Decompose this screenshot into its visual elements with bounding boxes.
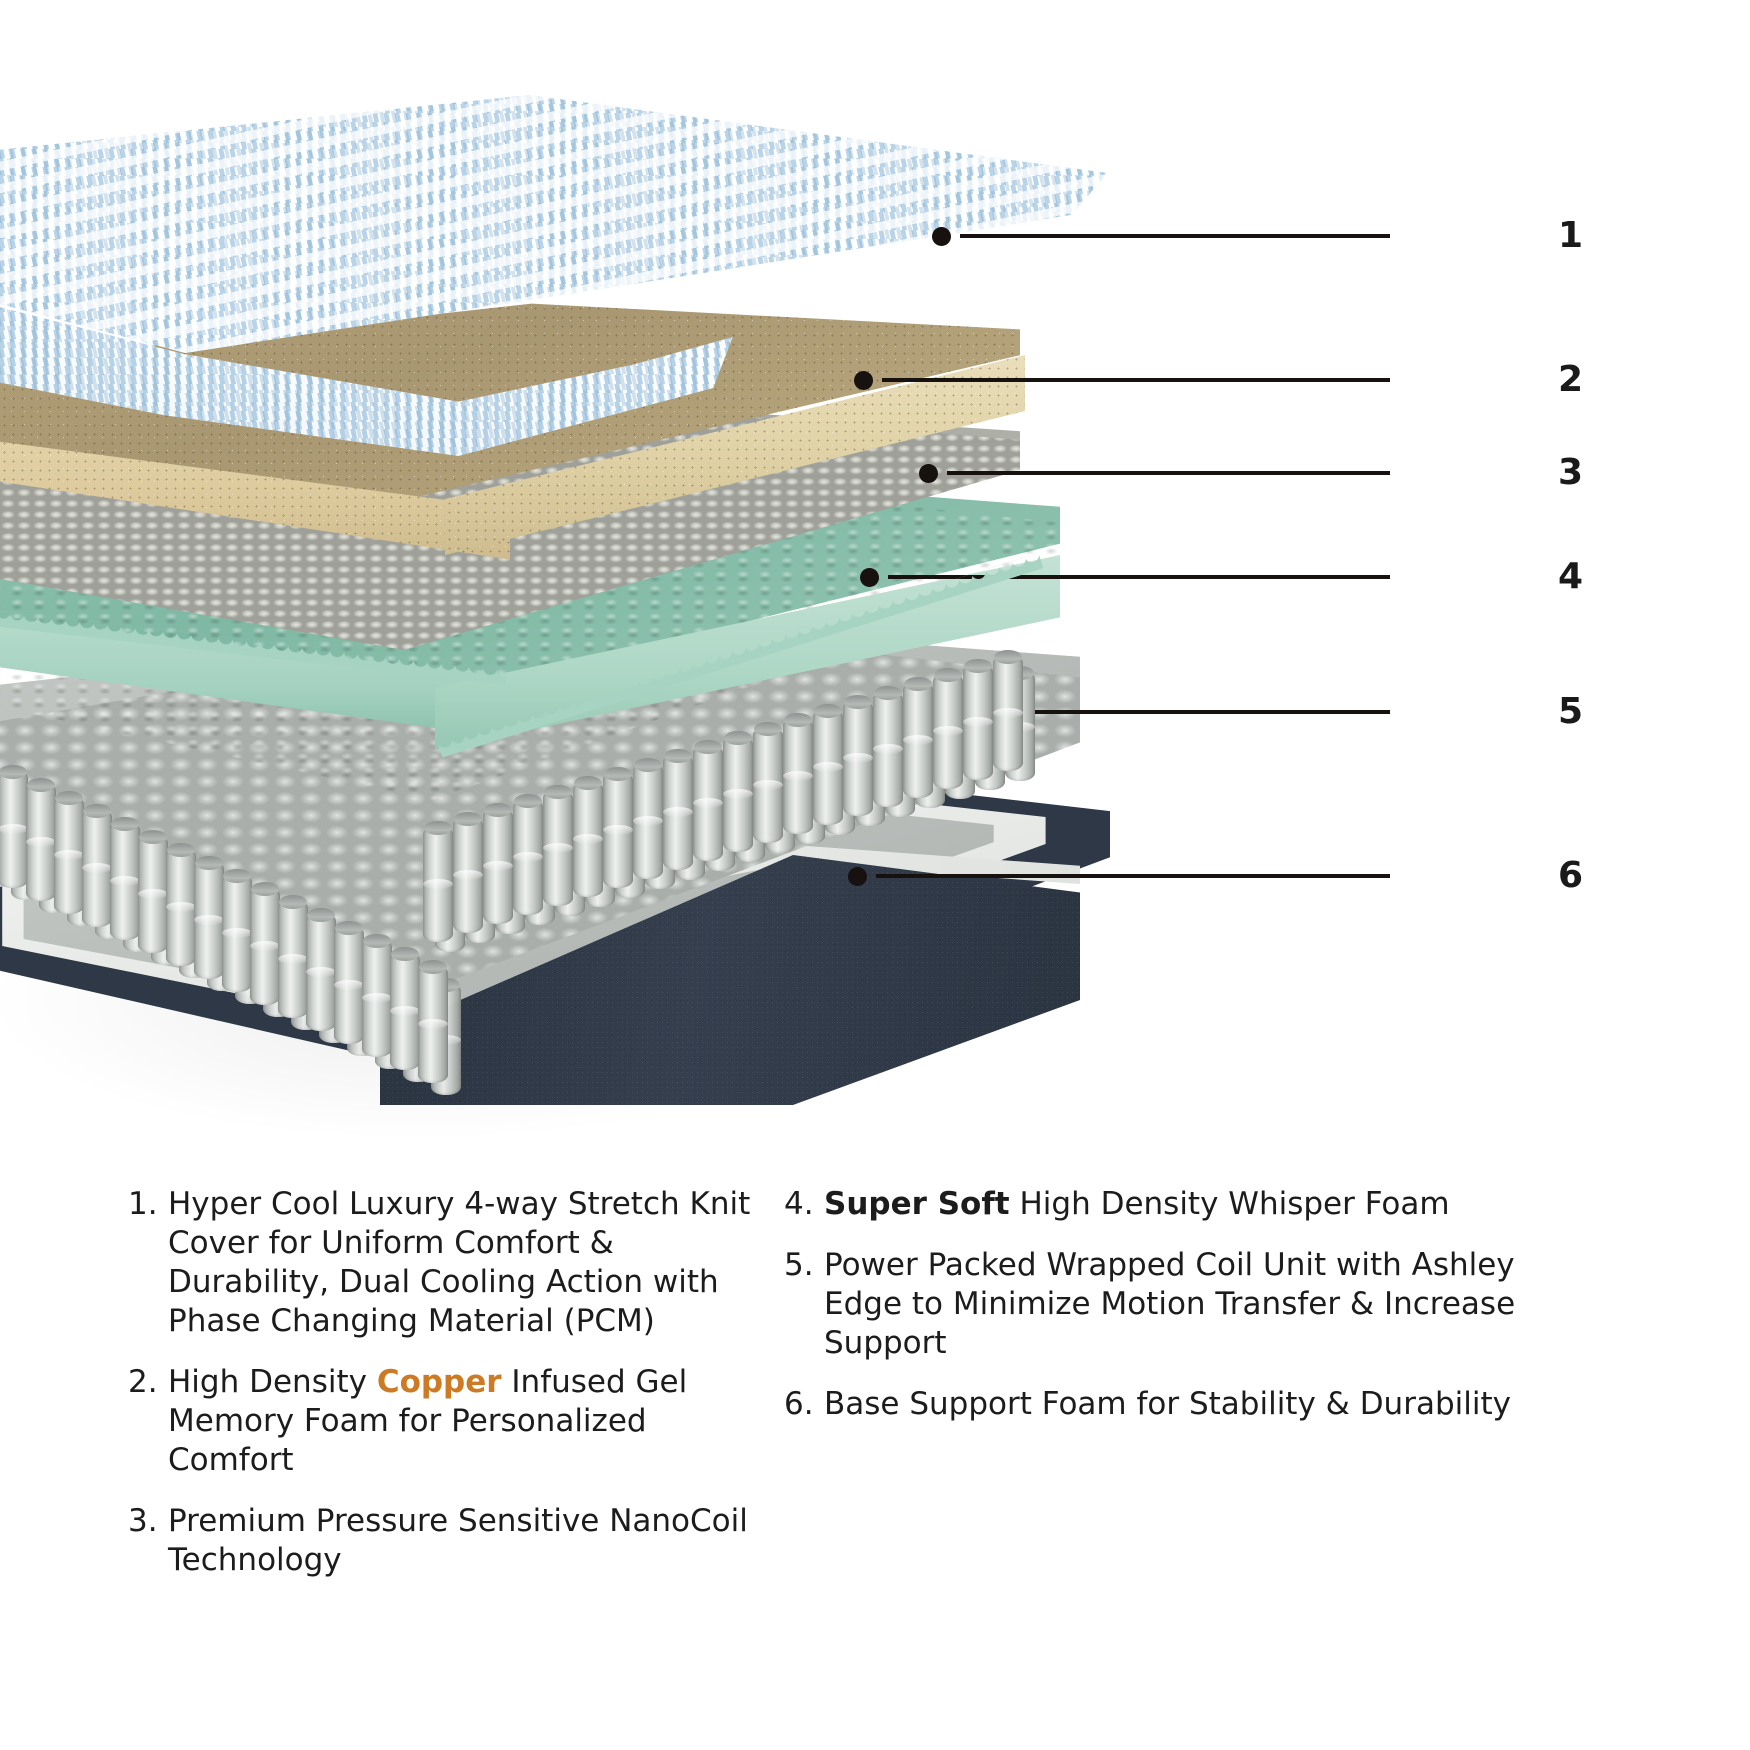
legend-item-text: Hyper Cool Luxury 4-way Stretch Knit Cov…: [168, 1185, 760, 1341]
callout-dot-4: [860, 568, 879, 587]
callout-leader-line-2: [882, 378, 1390, 382]
coil-cylinder: [543, 790, 573, 906]
coil-cylinder: [693, 745, 723, 861]
callout-number-5: 5: [1558, 694, 1583, 730]
coil-cylinder: [903, 682, 933, 798]
legend-item-number: 3.: [128, 1502, 168, 1580]
legend-item-number: 2.: [128, 1363, 168, 1480]
coil-cylinder: [138, 835, 168, 953]
coil-cylinder: [54, 796, 84, 914]
callout-number-6: 6: [1558, 858, 1583, 894]
coil-cylinder: [843, 700, 873, 816]
legend-item-text: Premium Pressure Sensitive NanoCoil Tech…: [168, 1502, 760, 1580]
coil-cylinder: [633, 763, 663, 879]
legend-item-text: Base Support Foam for Stability & Durabi…: [824, 1385, 1560, 1424]
legend-item-text: High Density Copper Infused Gel Memory F…: [168, 1363, 760, 1480]
coil-cylinder: [390, 952, 420, 1070]
coil-cylinder: [250, 887, 280, 1005]
coil-cylinder: [933, 673, 963, 789]
coil-cylinder: [783, 718, 813, 834]
coil-cylinder: [278, 900, 308, 1018]
coil-cylinder: [813, 709, 843, 825]
legend-column-right: 4.Super Soft High Density Whisper Foam5.…: [760, 1185, 1560, 1750]
coil-cylinder: [26, 783, 56, 901]
callout-dot-3: [919, 464, 938, 483]
coil-cylinder: [194, 861, 224, 979]
legend-item-2: 2.High Density Copper Infused Gel Memory…: [128, 1363, 760, 1480]
legend-item-text: Power Packed Wrapped Coil Unit with Ashl…: [824, 1246, 1560, 1363]
legend-item-number: 5.: [784, 1246, 824, 1363]
coil-cylinder: [513, 799, 543, 915]
callout-number-2: 2: [1558, 362, 1583, 398]
coil-cylinder: [334, 926, 364, 1044]
legend-copper-highlight: Copper: [377, 1364, 502, 1400]
coil-cylinder: [573, 781, 603, 897]
legend-item-number: 4.: [784, 1185, 824, 1224]
legend-item-1: 1.Hyper Cool Luxury 4-way Stretch Knit C…: [128, 1185, 760, 1341]
coil-cylinder: [873, 691, 903, 807]
callout-dot-1: [932, 227, 951, 246]
coil-cylinder: [963, 664, 993, 780]
legend-column-left: 1.Hyper Cool Luxury 4-way Stretch Knit C…: [0, 1185, 760, 1750]
coil-cylinder: [483, 808, 513, 924]
callout-leader-line-6: [876, 874, 1390, 878]
coil-cylinder: [362, 939, 392, 1057]
callout-leader-line-3: [947, 471, 1390, 475]
coil-cylinder: [110, 822, 140, 940]
callout-number-1: 1: [1558, 218, 1583, 254]
callout-leader-line-1: [960, 234, 1390, 238]
callout-number-4: 4: [1558, 559, 1583, 595]
legend-item-4: 4.Super Soft High Density Whisper Foam: [784, 1185, 1560, 1224]
legend-item-text: Super Soft High Density Whisper Foam: [824, 1185, 1560, 1224]
callout-number-3: 3: [1558, 455, 1583, 491]
coil-cylinder: [418, 965, 448, 1083]
coil-cylinder: [0, 770, 28, 888]
legend-item-3: 3.Premium Pressure Sensitive NanoCoil Te…: [128, 1502, 760, 1580]
coil-cylinder: [753, 727, 783, 843]
coil-cylinder: [453, 817, 483, 933]
legend-item-5: 5.Power Packed Wrapped Coil Unit with As…: [784, 1246, 1560, 1363]
coil-cylinder: [306, 913, 336, 1031]
legend-item-6: 6.Base Support Foam for Stability & Dura…: [784, 1385, 1560, 1424]
coil-cylinder: [723, 736, 753, 852]
mattress-cutaway-illustration: 123456: [0, 0, 1750, 1180]
coil-cylinder: [166, 848, 196, 966]
coil-cylinder: [82, 809, 112, 927]
legend-item-number: 6.: [784, 1385, 824, 1424]
coil-cylinder: [663, 754, 693, 870]
layer-knit-cover: [0, 95, 1120, 525]
coil-cylinder: [603, 772, 633, 888]
coil-cylinder: [993, 655, 1023, 771]
legend: 1.Hyper Cool Luxury 4-way Stretch Knit C…: [0, 1185, 1750, 1750]
coil-cylinder: [222, 874, 252, 992]
legend-item-number: 1.: [128, 1185, 168, 1341]
callout-dot-6: [848, 867, 867, 886]
coil-cylinder: [423, 826, 453, 942]
callout-dot-2: [854, 371, 873, 390]
